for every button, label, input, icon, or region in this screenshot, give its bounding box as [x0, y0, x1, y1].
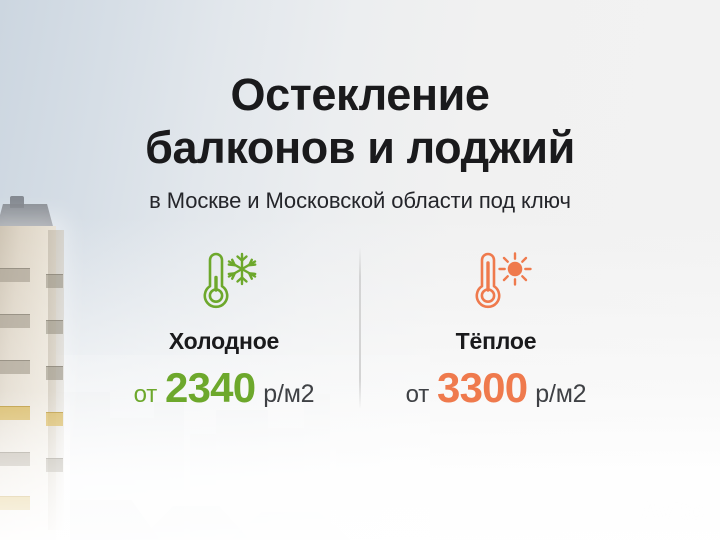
price-prefix-warm: от — [406, 381, 429, 409]
price-warm: от 3300 р/м2 — [406, 364, 587, 412]
price-amount-warm: 3300 — [437, 364, 527, 412]
price-cold: от 2340 р/м2 — [134, 364, 315, 412]
thermometer-snowflake-icon — [187, 242, 261, 322]
price-card-cold: Холодное от 2340 р/м2 — [89, 242, 359, 412]
advertisement-banner: Остекление балконов и лоджий в Москве и … — [0, 0, 720, 540]
subtitle: в Москве и Московской области под ключ — [50, 187, 670, 215]
card-label-warm: Тёплое — [456, 328, 537, 355]
headline-line-2: балконов и лоджий — [60, 121, 660, 174]
page-title: Остекление балконов и лоджий — [60, 68, 660, 174]
thermometer-sun-icon — [459, 242, 533, 322]
price-unit-warm: р/м2 — [535, 380, 586, 409]
headline-line-1: Остекление — [60, 68, 660, 121]
price-amount-cold: 2340 — [165, 364, 255, 412]
price-unit-cold: р/м2 — [263, 380, 314, 409]
price-prefix-cold: от — [134, 381, 157, 409]
card-label-cold: Холодное — [169, 328, 279, 355]
price-cards: Холодное от 2340 р/м2 — [0, 242, 720, 412]
price-card-warm: Тёплое от 3300 р/м2 — [361, 242, 631, 412]
banner-content: Остекление балконов и лоджий в Москве и … — [0, 0, 720, 540]
